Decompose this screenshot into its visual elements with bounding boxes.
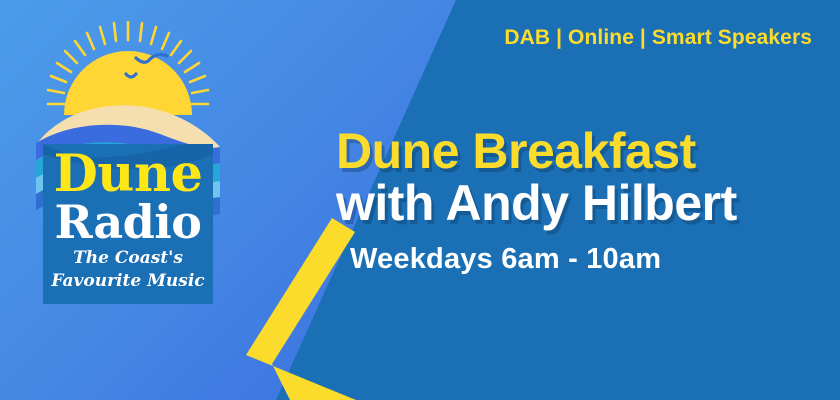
show-title: Dune Breakfast: [336, 126, 737, 177]
platforms-availability-text: DAB | Online | Smart Speakers: [504, 26, 812, 50]
radio-station-promo-banner: Dune Radio The Coast's Favourite Music D…: [0, 0, 840, 400]
show-presenter: with Andy Hilbert: [336, 177, 737, 229]
dune-radio-logo: Dune Radio The Coast's Favourite Music: [28, 14, 228, 314]
show-schedule: Weekdays 6am - 10am: [350, 243, 661, 276]
show-headline: Dune Breakfast with Andy Hilbert: [336, 126, 737, 229]
